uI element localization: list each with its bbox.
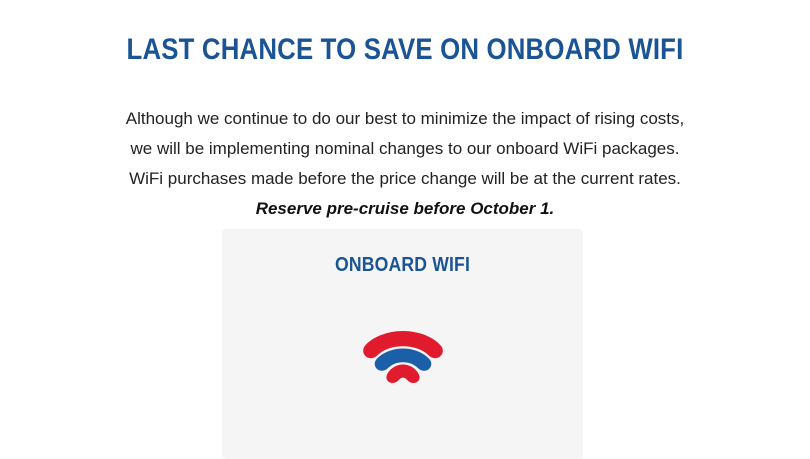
promo-description-emphasis: Reserve pre-cruise before October 1. bbox=[256, 199, 555, 218]
wifi-icon-container bbox=[222, 329, 583, 383]
promo-page: LAST CHANCE TO SAVE ON ONBOARD WIFI Alth… bbox=[0, 0, 810, 437]
page-title: LAST CHANCE TO SAVE ON ONBOARD WIFI bbox=[57, 32, 754, 68]
wifi-icon bbox=[363, 329, 443, 383]
promo-description: Although we continue to do our best to m… bbox=[115, 104, 695, 224]
card-title: ONBOARD WIFI bbox=[244, 253, 562, 277]
onboard-wifi-card[interactable]: ONBOARD WIFI bbox=[222, 229, 583, 459]
promo-description-text: Although we continue to do our best to m… bbox=[126, 109, 684, 188]
